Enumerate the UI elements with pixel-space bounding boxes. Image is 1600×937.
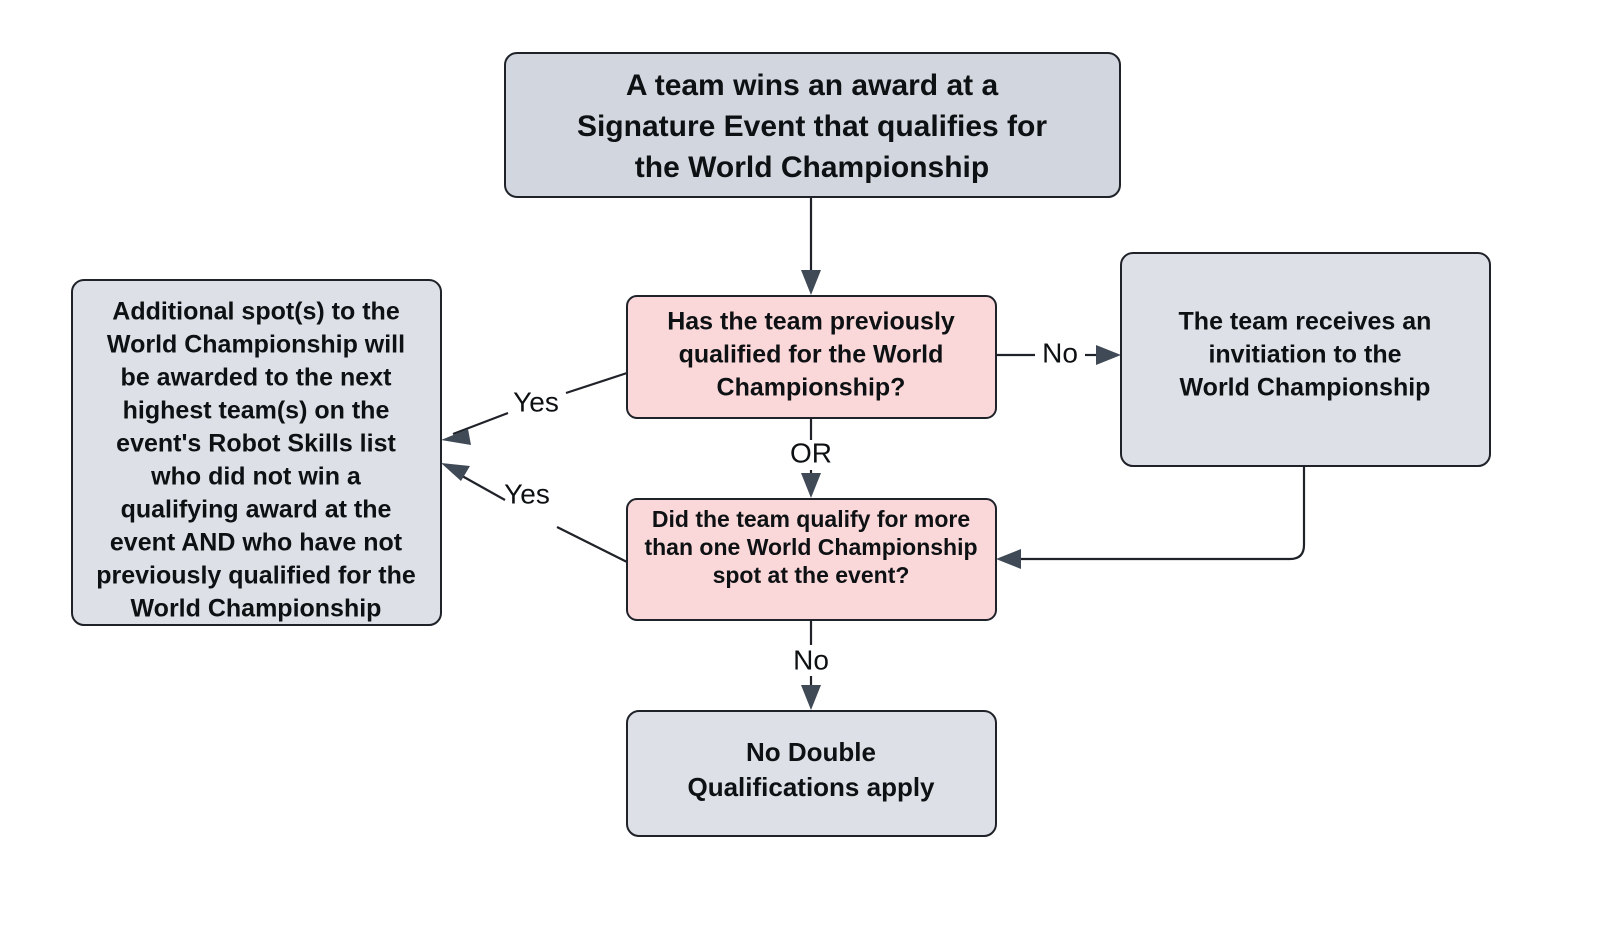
node-receives-invitation[interactable]: The team receives an invitiation to the … bbox=[1121, 253, 1490, 466]
edge-label-decision2-yes: Yes bbox=[504, 478, 550, 509]
edge-decision1-no: No bbox=[996, 337, 1121, 368]
node-receives-invitation-line-1: The team receives an bbox=[1179, 308, 1432, 336]
node-receives-invitation-line-2: invitiation to the bbox=[1208, 341, 1401, 369]
edge-start-to-decision1 bbox=[801, 198, 821, 295]
node-receives-invitation-line-3: World Championship bbox=[1180, 374, 1431, 402]
node-additional-spots-line-2: World Championship will bbox=[107, 331, 405, 359]
edge-decision2-yes: Yes bbox=[441, 463, 627, 562]
node-start-line-3: the World Championship bbox=[635, 151, 989, 184]
node-decision1-line-1: Has the team previously bbox=[667, 308, 955, 336]
node-additional-spots-line-6: who did not win a bbox=[150, 463, 362, 491]
edge-label-decision1-or: OR bbox=[790, 437, 832, 468]
node-decision2-line-1: Did the team qualify for more bbox=[652, 506, 970, 532]
node-additional-spots-line-9: previously qualified for the bbox=[96, 562, 416, 590]
edge-label-decision2-no: No bbox=[793, 644, 829, 675]
node-decision1-line-2: qualified for the World bbox=[679, 341, 944, 369]
node-decision2-line-2: than one World Championship bbox=[644, 534, 977, 560]
edge-invitation-to-decision2 bbox=[996, 466, 1304, 569]
flowchart-canvas: Yes No OR Yes No bbox=[0, 0, 1600, 937]
node-decision2-line-3: spot at the event? bbox=[713, 562, 910, 588]
node-additional-spots-line-10: World Championship bbox=[131, 595, 382, 623]
node-no-double-qualifications-line-2: Qualifications apply bbox=[687, 772, 935, 802]
edge-decision1-to-decision2: OR bbox=[790, 418, 832, 498]
node-decision1-line-3: Championship? bbox=[717, 374, 906, 402]
node-decision-more-than-one-spot[interactable]: Did the team qualify for more than one W… bbox=[627, 499, 996, 620]
node-additional-spots-line-8: event AND who have not bbox=[110, 529, 403, 557]
node-no-double-qualifications[interactable]: No Double Qualifications apply bbox=[627, 711, 996, 836]
node-additional-spots-line-3: be awarded to the next bbox=[121, 364, 393, 392]
node-decision-previously-qualified[interactable]: Has the team previously qualified for th… bbox=[627, 296, 996, 418]
edge-decision1-yes: Yes bbox=[441, 373, 627, 445]
node-start-line-2: Signature Event that qualifies for bbox=[577, 110, 1047, 143]
edge-label-decision1-yes: Yes bbox=[513, 386, 559, 417]
flowchart-svg: Yes No OR Yes No bbox=[0, 0, 1600, 937]
node-additional-spots-line-5: event's Robot Skills list bbox=[116, 430, 396, 458]
node-start-line-1: A team wins an award at a bbox=[626, 69, 999, 102]
node-additional-spots-line-7: qualifying award at the bbox=[121, 496, 392, 524]
edge-label-decision1-no: No bbox=[1042, 337, 1078, 368]
node-additional-spots[interactable]: Additional spot(s) to the World Champion… bbox=[72, 280, 441, 625]
edge-decision2-no: No bbox=[793, 620, 829, 710]
node-start[interactable]: A team wins an award at a Signature Even… bbox=[505, 53, 1120, 197]
node-additional-spots-line-1: Additional spot(s) to the bbox=[112, 298, 400, 326]
node-no-double-qualifications-line-1: No Double bbox=[746, 737, 876, 767]
node-additional-spots-line-4: highest team(s) on the bbox=[123, 397, 390, 425]
